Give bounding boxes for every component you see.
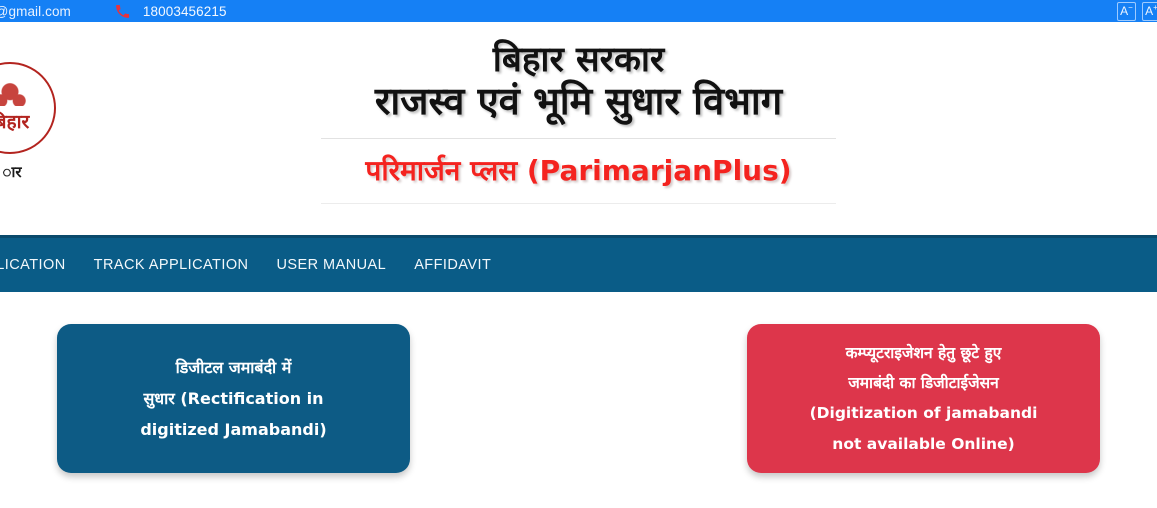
topbar-contact-group: tionbihar@gmail.com 18003456215 [0, 0, 227, 22]
phone-icon [113, 3, 133, 19]
nav-item-affidavit[interactable]: AFFIDAVIT [400, 257, 505, 273]
font-size-controls: A− A+ [1117, 0, 1157, 22]
font-decrease-button[interactable]: A− [1117, 2, 1136, 21]
masthead-title-block: बिहार सरकार राजस्व एवं भूमि सुधार विभाग … [0, 40, 1157, 204]
top-utility-bar: tionbihar@gmail.com 18003456215 A− A+ [0, 0, 1157, 22]
rectification-card-line-2: सुधार (Rectification in [143, 383, 323, 414]
digitization-card-line-1: कम्प्यूटराइजेशन हेतु छूटे हुए [846, 338, 1002, 368]
rectification-card[interactable]: डिजीटल जमाबंदी में सुधार (Rectification … [57, 324, 410, 473]
digitization-card-line-2: जमाबंदी का डिजीटाईजेसन [848, 368, 998, 398]
rectification-card-line-3: digitized Jamabandi) [140, 414, 326, 445]
nav-item-list: PPLICATION TRACK APPLICATION USER MANUAL… [0, 257, 505, 273]
font-increase-label: A [1145, 4, 1153, 18]
subtitle-divider [321, 203, 836, 204]
page-title-line-1: बिहार सरकार [0, 40, 1157, 81]
digitization-card-line-4: not available Online) [832, 429, 1014, 459]
action-card-row: डिजीटल जमाबंदी में सुधार (Rectification … [0, 324, 1157, 473]
font-increase-button[interactable]: A+ [1142, 2, 1157, 21]
font-increase-sign: + [1153, 3, 1157, 12]
page-title-line-2: राजस्व एवं भूमि सुधार विभाग [0, 79, 1157, 124]
main-content-area: डिजीटल जमाबंदी में सुधार (Rectification … [0, 292, 1157, 508]
digitization-card-line-3: (Digitization of jamabandi [810, 398, 1038, 428]
nav-item-track-application[interactable]: TRACK APPLICATION [80, 257, 263, 273]
rectification-card-line-1: डिजीटल जमाबंदी में [176, 352, 292, 383]
site-masthead: बिहार ार बिहार सरकार राजस्व एवं भूमि सुध… [0, 22, 1157, 235]
contact-phone[interactable]: 18003456215 [143, 4, 227, 19]
font-decrease-label: A [1120, 4, 1128, 18]
nav-item-application[interactable]: PPLICATION [0, 257, 80, 273]
contact-email[interactable]: tionbihar@gmail.com [0, 4, 71, 19]
nav-item-user-manual[interactable]: USER MANUAL [262, 257, 400, 273]
main-navigation-bar: PPLICATION TRACK APPLICATION USER MANUAL… [0, 235, 1157, 292]
title-divider [321, 138, 836, 139]
portal-subtitle: परिमार्जन प्लस (ParimarjanPlus) [0, 151, 1157, 189]
digitization-card[interactable]: कम्प्यूटराइजेशन हेतु छूटे हुए जमाबंदी का… [747, 324, 1100, 473]
font-decrease-sign: − [1128, 3, 1133, 12]
